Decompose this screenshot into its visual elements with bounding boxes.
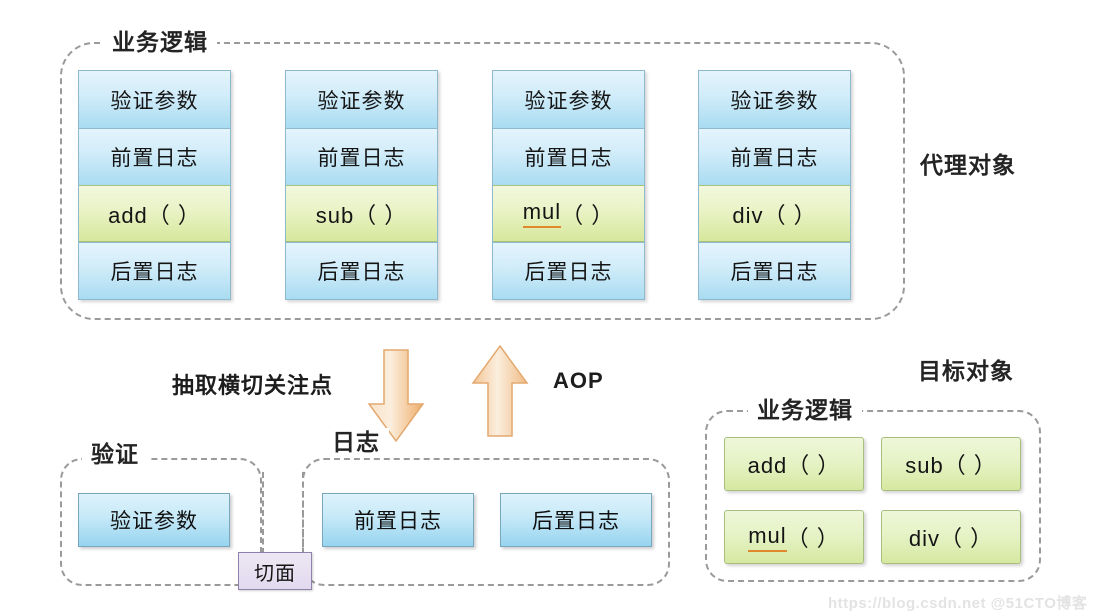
- validation-group-caption: 验证: [82, 440, 148, 468]
- up-arrow-icon: [470, 343, 530, 439]
- misspelled-word: mul: [523, 199, 561, 228]
- misspelled-word: mul: [748, 523, 786, 552]
- watermark: https://blog.csdn.net @51CTO博客: [828, 592, 1087, 613]
- proxy-cell-method: add（ ）: [79, 185, 230, 242]
- target-method-div[interactable]: div（ ）: [881, 510, 1021, 564]
- method-parens: （ ）: [561, 198, 614, 230]
- target-method-sub[interactable]: sub（ ）: [881, 437, 1021, 491]
- proxy-group-caption: 业务逻辑: [103, 28, 217, 56]
- proxy-cell-method: mul（ ）: [493, 185, 644, 242]
- proxy-cell-validate: 验证参数: [286, 71, 437, 128]
- concern-before-log[interactable]: 前置日志: [322, 493, 474, 547]
- proxy-cell-after-log: 后置日志: [699, 242, 850, 299]
- proxy-cell-after-log: 后置日志: [79, 242, 230, 299]
- proxy-cell-before-log: 前置日志: [699, 128, 850, 185]
- proxy-object-caption: 代理对象: [920, 146, 1016, 180]
- proxy-cell-before-log: 前置日志: [79, 128, 230, 185]
- aspect-badge[interactable]: 切面: [238, 552, 312, 590]
- proxy-cell-after-log: 后置日志: [493, 242, 644, 299]
- concern-after-log[interactable]: 后置日志: [500, 493, 652, 547]
- target-group-caption: 业务逻辑: [748, 396, 862, 424]
- method-parens: （ ）: [787, 521, 840, 553]
- aspect-connector-right: [302, 472, 304, 554]
- proxy-cell-validate: 验证参数: [699, 71, 850, 128]
- proxy-cell-before-log: 前置日志: [493, 128, 644, 185]
- concern-validate-params[interactable]: 验证参数: [78, 493, 230, 547]
- proxy-column-add[interactable]: 验证参数 前置日志 add（ ） 后置日志: [78, 70, 231, 300]
- proxy-cell-after-log: 后置日志: [286, 242, 437, 299]
- aop-label: AOP: [553, 368, 604, 394]
- proxy-cell-method: sub（ ）: [286, 185, 437, 242]
- extract-crosscutting-label: 抽取横切关注点: [172, 368, 333, 400]
- proxy-column-div[interactable]: 验证参数 前置日志 div（ ） 后置日志: [698, 70, 851, 300]
- proxy-cell-validate: 验证参数: [79, 71, 230, 128]
- target-method-mul[interactable]: mul（ ）: [724, 510, 864, 564]
- proxy-column-mul[interactable]: 验证参数 前置日志 mul（ ） 后置日志: [492, 70, 645, 300]
- proxy-cell-method: div（ ）: [699, 185, 850, 242]
- target-object-caption: 目标对象: [918, 352, 1014, 386]
- target-method-add[interactable]: add（ ）: [724, 437, 864, 491]
- proxy-cell-before-log: 前置日志: [286, 128, 437, 185]
- proxy-cell-validate: 验证参数: [493, 71, 644, 128]
- diagram-canvas: 业务逻辑 代理对象 验证参数 前置日志 add（ ） 后置日志 验证参数 前置日…: [0, 0, 1094, 616]
- log-group-caption: 日志: [323, 428, 389, 456]
- proxy-column-sub[interactable]: 验证参数 前置日志 sub（ ） 后置日志: [285, 70, 438, 300]
- aspect-connector-left: [262, 472, 264, 554]
